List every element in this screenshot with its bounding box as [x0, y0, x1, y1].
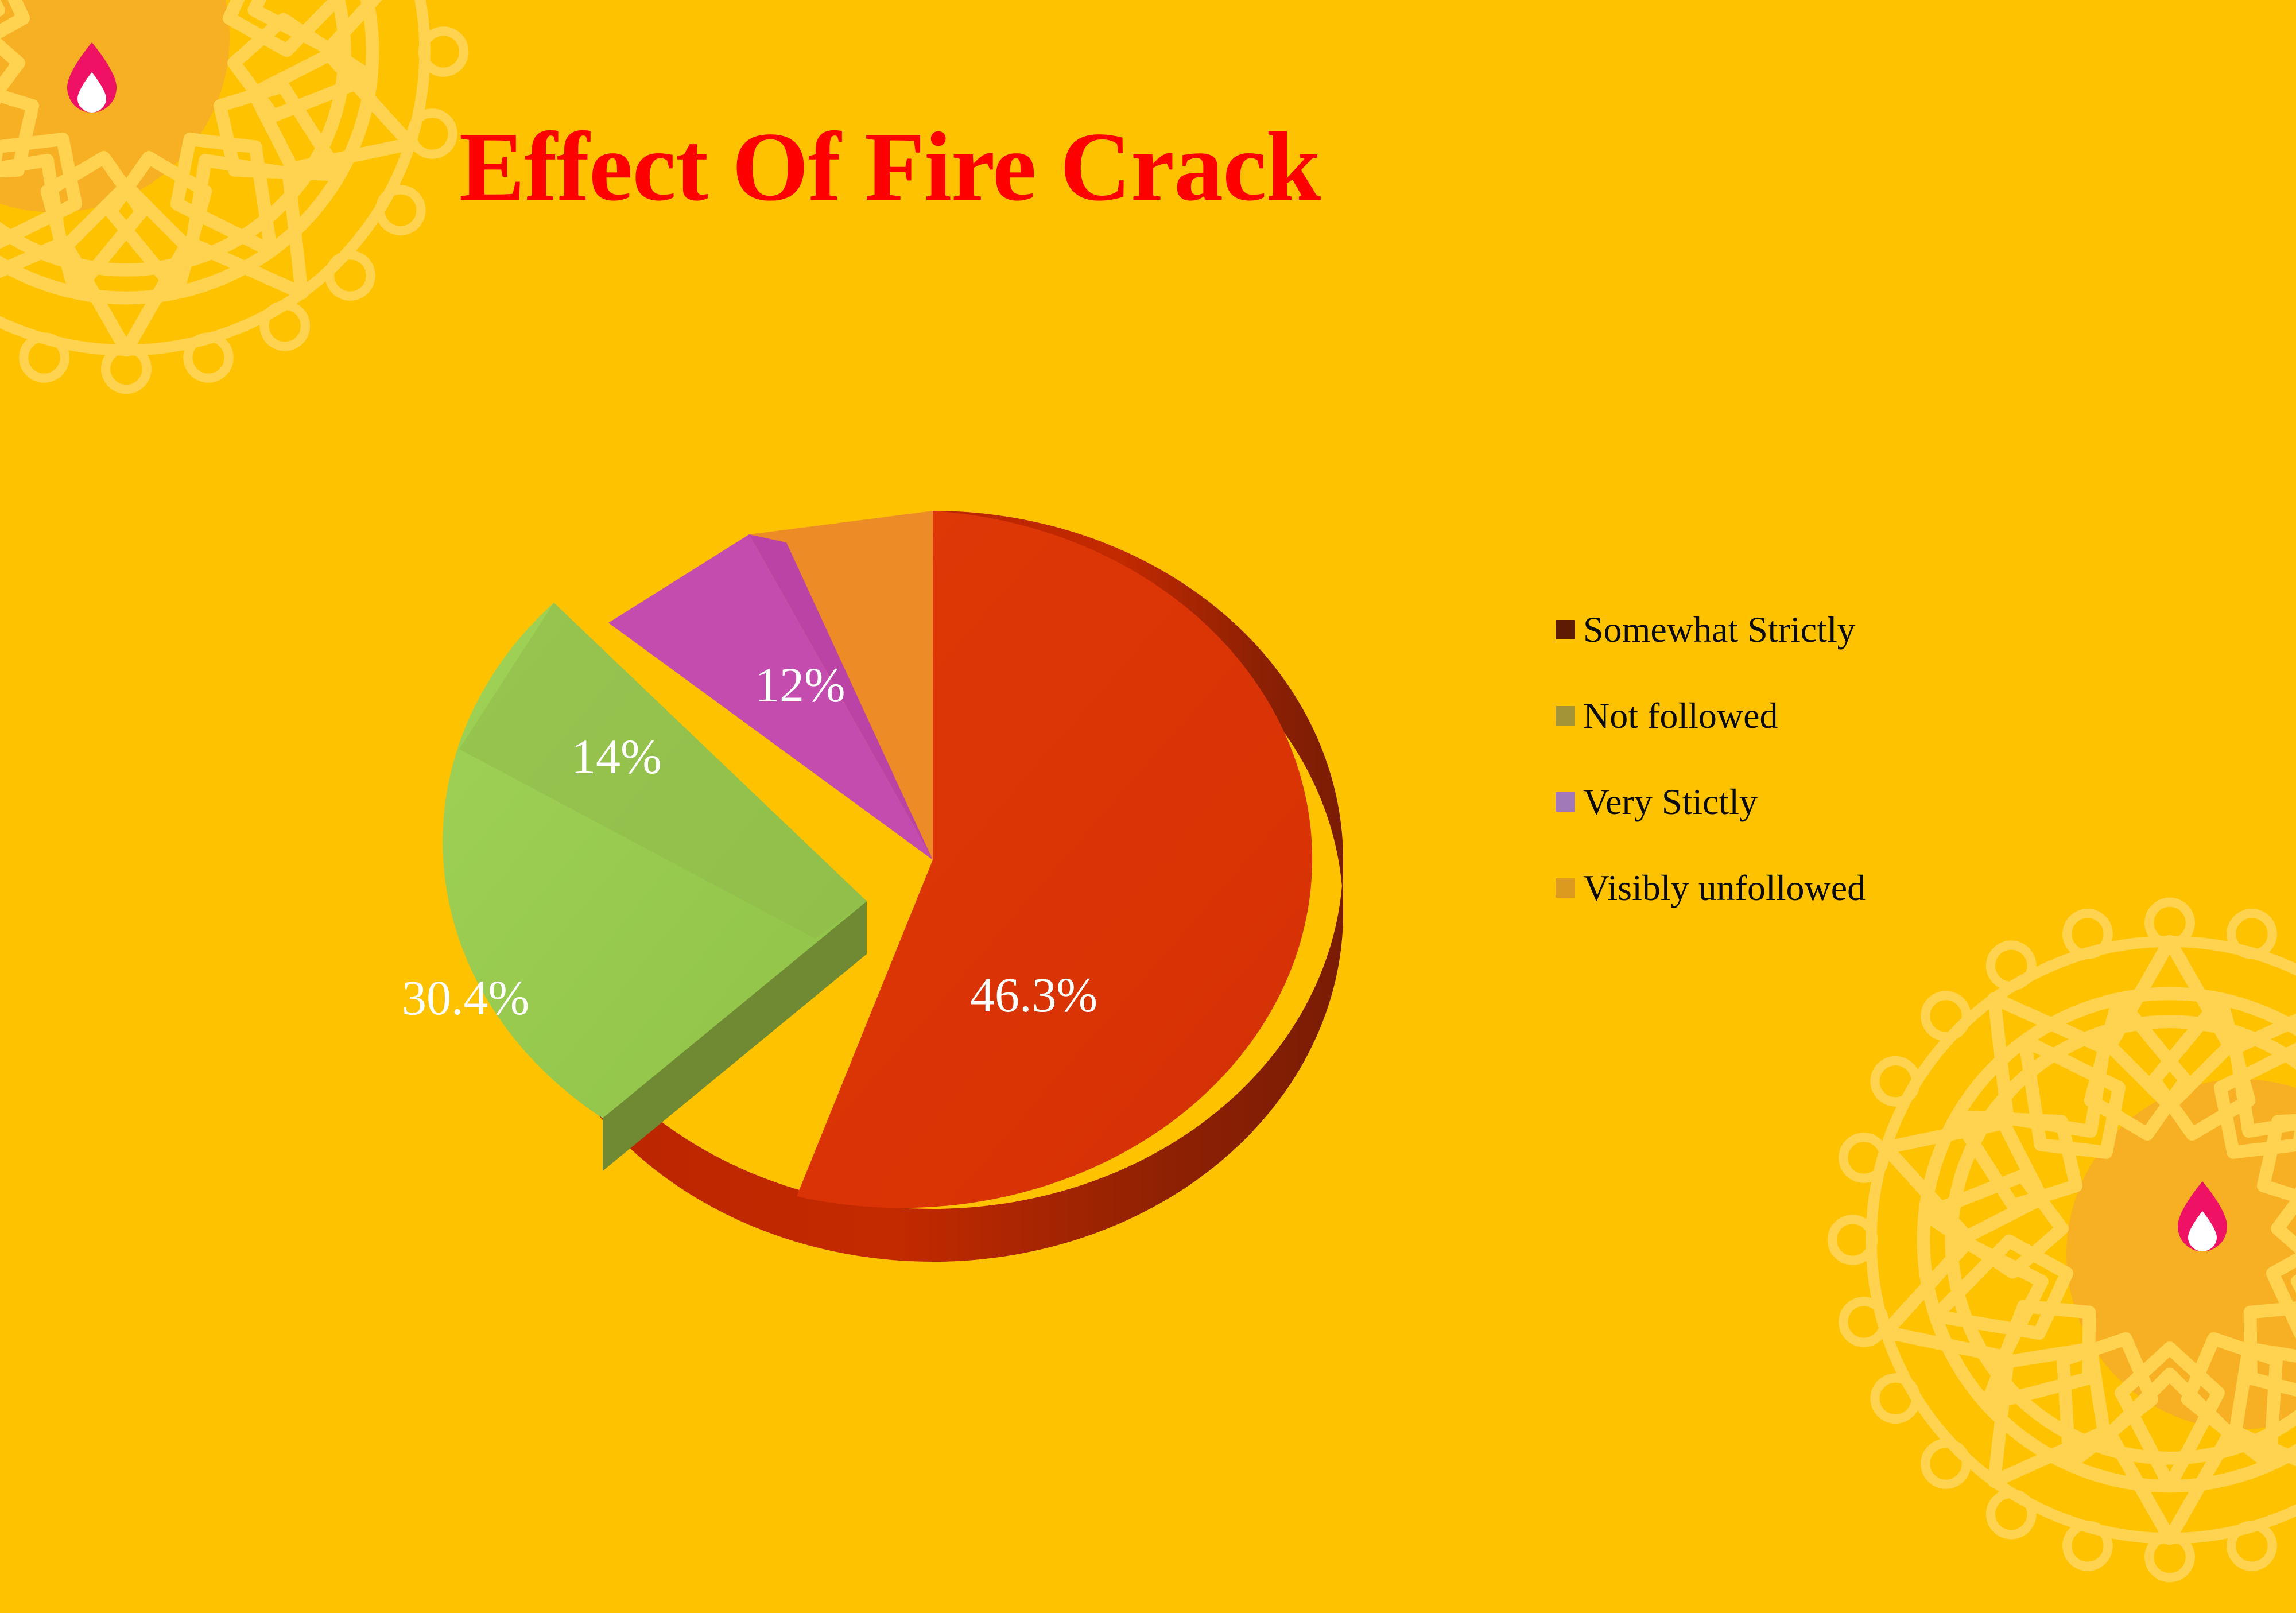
legend-label: Not followed [1583, 697, 1778, 734]
slice-label-visibly-unfollowed: 12% [755, 660, 846, 709]
legend-item-not-followed[interactable]: Not followed [1556, 673, 2072, 759]
slice-label-not-followed: 30.4% [402, 973, 529, 1022]
pie-chart-svg [281, 264, 1446, 1263]
legend-item-visibly-unfollowed[interactable]: Visibly unfollowed [1556, 845, 2072, 931]
legend-label: Very Stictly [1583, 784, 1758, 820]
legend-swatch-icon [1556, 878, 1575, 898]
legend-label: Somewhat Strictly [1583, 611, 1856, 648]
legend-swatch-icon [1556, 792, 1575, 812]
flame-icon-bottom-right [2177, 1180, 2228, 1254]
page-title: Effect Of Fire Crack [0, 118, 1779, 216]
diya-circle-bottom-right [2066, 1079, 2296, 1429]
legend-item-somewhat-strictly[interactable]: Somewhat Strictly [1556, 587, 2072, 673]
legend-label: Visibly unfollowed [1583, 870, 1865, 906]
slice-label-somewhat-strictly: 46.3% [970, 970, 1097, 1019]
pie-chart: 46.3% 30.4% 14% 12% [281, 264, 1446, 1263]
slice-label-very-stictly: 14% [571, 732, 662, 781]
slide-canvas: Effect Of Fire Crack [0, 0, 2296, 1292]
chart-legend: Somewhat Strictly Not followed Very Stic… [1556, 587, 2072, 931]
legend-swatch-icon [1556, 620, 1575, 639]
legend-swatch-icon [1556, 706, 1575, 726]
flame-icon-top-left [66, 41, 118, 115]
legend-item-very-stictly[interactable]: Very Stictly [1556, 759, 2072, 845]
